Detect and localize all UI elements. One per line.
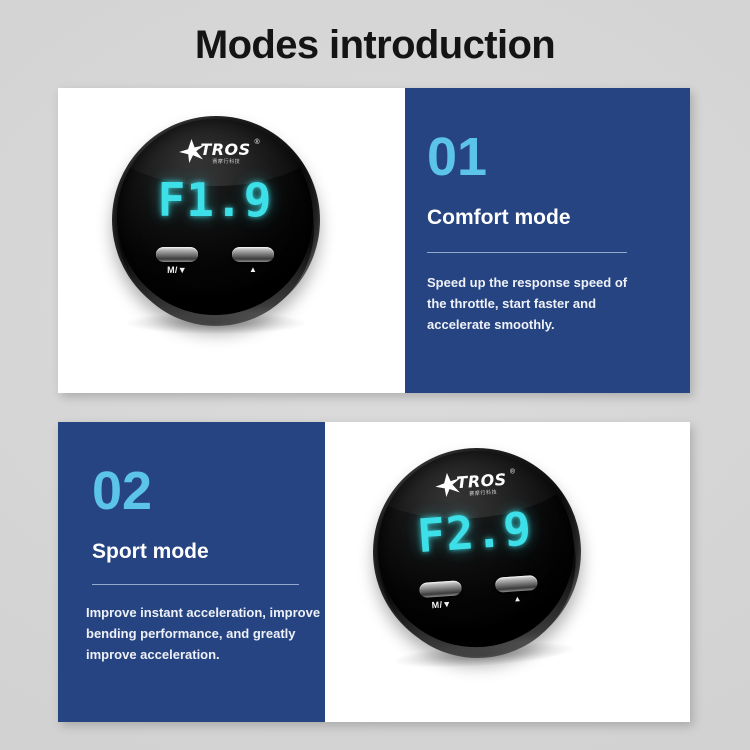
device-panel-sport: TROS ® 赛摩行科技 F2.9 M/▼ — [325, 422, 690, 722]
device-contact-shadow — [126, 312, 306, 334]
mode-button-label: M/▼ — [431, 599, 451, 610]
brand-name: TROS — [456, 471, 507, 490]
up-button-cap[interactable] — [232, 247, 274, 262]
mode-number: 01 — [427, 130, 487, 184]
throttle-controller-device-sport: TROS ® 赛摩行科技 F2.9 M/▼ — [366, 441, 588, 663]
page-title: Modes introduction — [0, 18, 750, 72]
device-brand-logo: TROS ® 赛摩行科技 — [117, 139, 313, 173]
device-mode-button[interactable]: M/▼ — [416, 580, 466, 611]
device-led-display: F1.9 — [117, 175, 313, 225]
mode-button-label: M/▼ — [167, 265, 187, 275]
mode-button-cap[interactable] — [419, 580, 462, 598]
mode-description: Speed up the response speed of the throt… — [427, 272, 649, 335]
registered-trademark-icon: ® — [510, 468, 516, 475]
brand-name: TROS — [200, 142, 250, 158]
up-button-cap[interactable] — [495, 575, 538, 593]
up-button-label: ▲ — [513, 594, 522, 605]
mode-description: Improve instant acceleration, improve be… — [86, 602, 324, 665]
product-mode-infographic: Modes introduction — [0, 0, 750, 750]
mode-card-comfort: TROS ® 赛摩行科技 F1.9 M/▼ — [58, 88, 690, 393]
device-face: TROS ® 赛摩行科技 F1.9 M/▼ — [117, 119, 313, 315]
device-up-button[interactable]: ▲ — [492, 575, 542, 606]
brand-subtext: 赛摩行科技 — [212, 158, 240, 165]
mode-info-panel-comfort: 01 Comfort mode Speed up the response sp… — [405, 88, 690, 393]
brand-subtext: 赛摩行科技 — [469, 489, 497, 498]
mode-number: 02 — [92, 464, 152, 518]
device-button-row: M/▼ ▲ — [380, 572, 577, 614]
device-button-row: M/▼ ▲ — [117, 247, 313, 275]
up-button-label: ▲ — [249, 265, 257, 275]
mode-card-sport: 02 Sport mode Improve instant accelerati… — [58, 422, 690, 722]
mode-title: Sport mode — [92, 540, 209, 564]
throttle-controller-device-comfort: TROS ® 赛摩行科技 F1.9 M/▼ — [112, 116, 320, 324]
device-mode-button[interactable]: M/▼ — [153, 247, 201, 275]
divider — [427, 252, 627, 253]
device-contact-shadow — [394, 637, 575, 672]
mode-button-cap[interactable] — [156, 247, 198, 262]
divider — [92, 584, 299, 585]
registered-trademark-icon: ® — [255, 139, 260, 146]
device-up-button[interactable]: ▲ — [229, 247, 277, 275]
mode-title: Comfort mode — [427, 206, 571, 230]
mode-info-panel-sport: 02 Sport mode Improve instant accelerati… — [58, 422, 325, 722]
device-panel-comfort: TROS ® 赛摩行科技 F1.9 M/▼ — [58, 88, 405, 393]
